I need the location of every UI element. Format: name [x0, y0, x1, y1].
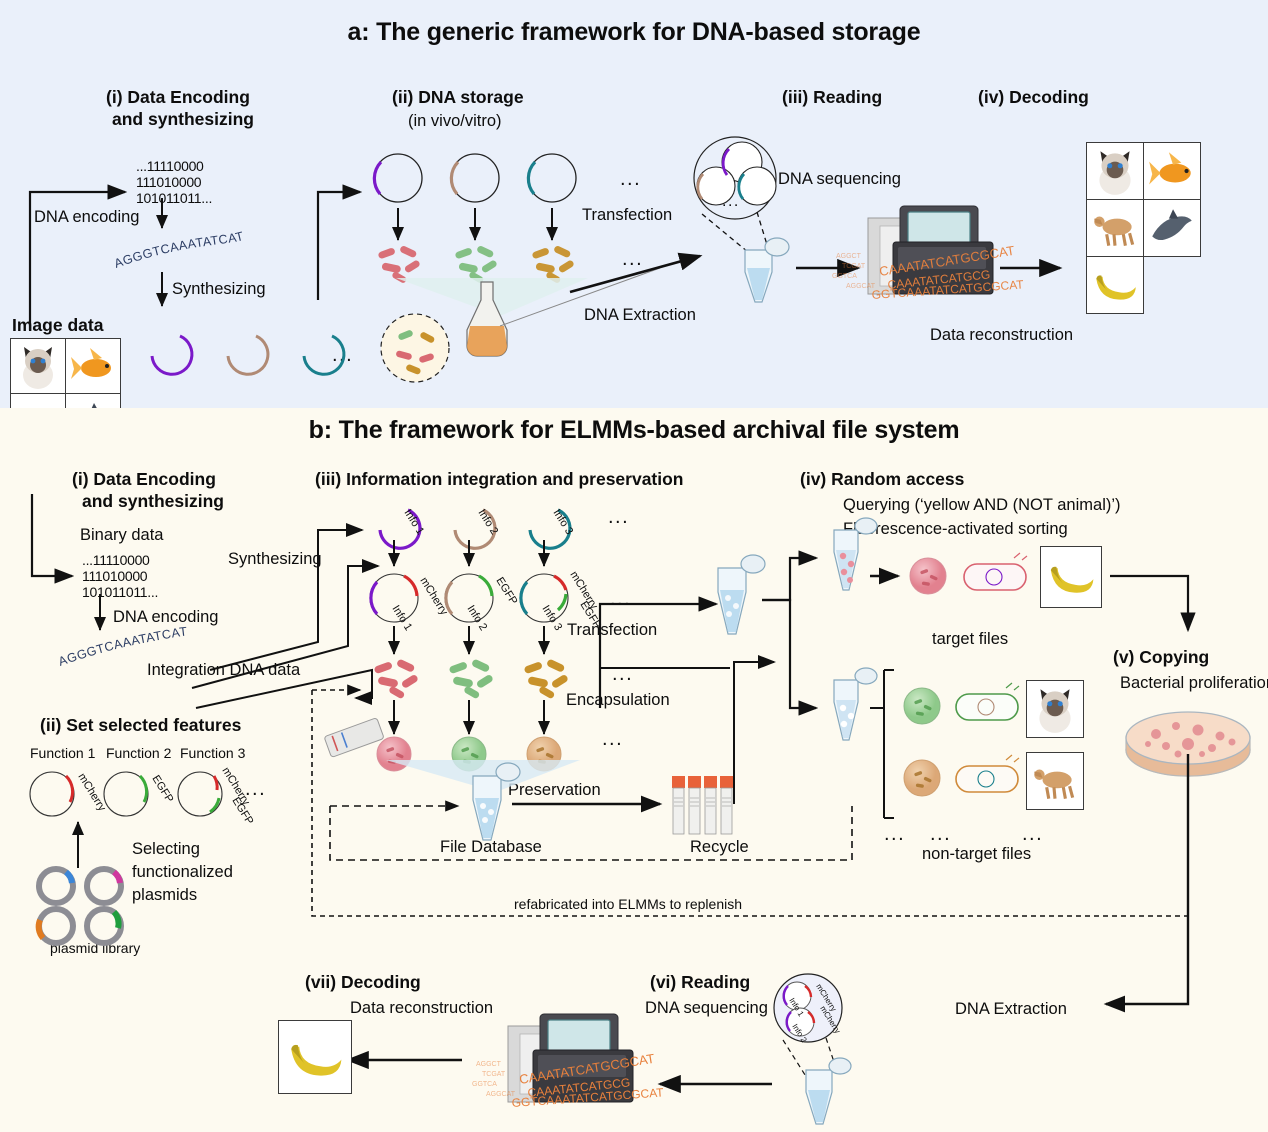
image-thumb-goldfish: [65, 338, 121, 394]
nontarget-ellipsis-1: ...: [884, 823, 905, 846]
panel-a-plasmid-ellipsis: ...: [620, 168, 641, 191]
panel-b-bacterial-proliferation-label: Bacterial proliferation: [1120, 674, 1268, 692]
svg-text:CAAATATCATGCGCAT: CAAATATCATGCGCAT: [518, 1051, 655, 1087]
panel-a-binary-line-2: 111010000: [136, 174, 201, 190]
panel-a-step-ii-label: (ii) DNA storage: [392, 88, 524, 108]
nontarget-ellipsis-2: ...: [930, 823, 951, 846]
svg-text:mCherry: mCherry: [75, 771, 108, 814]
decoded-thumb-goldfish: [1143, 142, 1201, 200]
svg-text:AGGCAT: AGGCAT: [486, 1091, 516, 1098]
decoded-thumb-dolphin: [1143, 199, 1201, 257]
svg-text:Info 2: Info 2: [475, 507, 500, 537]
panel-b-step-iv-label: (iv) Random access: [800, 470, 964, 490]
svg-text:TCGAT: TCGAT: [482, 1071, 506, 1078]
svg-text:mCherry: mCherry: [818, 1004, 842, 1035]
panel-a-synthesizing-label: Synthesizing: [172, 280, 266, 298]
svg-text:GGTCAAATATCATGCGCAT: GGTCAAATATCATGCGCAT: [871, 277, 1024, 302]
panel-b-step-v-label: (v) Copying: [1113, 648, 1209, 668]
panel-b-step-vi-label: (vi) Reading: [650, 973, 750, 993]
selecting-line-1: Selecting: [132, 840, 200, 858]
panel-b-binary-line-1: ...11110000: [82, 552, 150, 568]
panel-b-plasmid-ellipsis: ...: [610, 588, 631, 611]
function-2-label: Function 2: [106, 746, 171, 762]
panel-b-integration-dna-label: Integration DNA data: [147, 661, 300, 679]
nontarget-thumb-dog: [1026, 752, 1084, 810]
panel-b-dna-extraction-label: DNA Extraction: [955, 1000, 1067, 1018]
selecting-line-2: functionalized: [132, 863, 233, 881]
panel-b-elmms-framework: b: The framework for ELMMs-based archiva…: [0, 408, 1268, 1132]
svg-text:AGGCT: AGGCT: [476, 1061, 502, 1068]
features-ellipsis: ...: [245, 778, 266, 801]
panel-b-non-target-files-label: non-target files: [922, 845, 1031, 863]
svg-text:CAAATATCATGCGCAT: CAAATATCATGCGCAT: [878, 243, 1015, 279]
svg-text:mCherry: mCherry: [814, 982, 838, 1013]
svg-text:Info 3: Info 3: [550, 507, 575, 537]
panel-a-generic-framework: a: The generic framework for DNA-based s…: [0, 0, 1268, 408]
svg-text:AGGCAT: AGGCAT: [846, 283, 876, 290]
panel-b-step-ii-label: (ii) Set selected features: [40, 716, 241, 736]
panel-b-dna-encoding-label: DNA encoding: [113, 608, 219, 626]
panel-b-binary-line-3: 101011011...: [82, 584, 158, 600]
panel-b-transfection-label: Transfection: [567, 621, 657, 639]
svg-text:GGTCA: GGTCA: [472, 1081, 497, 1088]
target-thumb-banana: [1040, 546, 1102, 608]
panel-a-step-iii-label: (iii) Reading: [782, 88, 882, 108]
panel-a-dna-encoding-label: DNA encoding: [34, 208, 140, 226]
panel-a-step-i-label2: and synthesizing: [112, 110, 254, 130]
panel-b-target-files-label: target files: [932, 630, 1008, 648]
panel-a-data-reconstruction-label: Data reconstruction: [930, 326, 1073, 344]
svg-text:Info 3: Info 3: [539, 603, 564, 633]
svg-text:Info 1: Info 1: [787, 996, 806, 1018]
svg-text:TCGAT: TCGAT: [842, 263, 866, 270]
panel-b-step-vii-label: (vii) Decoding: [305, 973, 421, 993]
panel-b-info-ellipsis: ...: [608, 506, 629, 529]
svg-text:GGTCAAATATCATGCGCAT: GGTCAAATATCATGCGCAT: [511, 1085, 664, 1110]
image-thumb-cat: [10, 338, 66, 394]
panel-b-title: b: The framework for ELMMs-based archiva…: [0, 416, 1268, 444]
panel-a-bacteria-ellipsis: ...: [622, 248, 643, 271]
decoded-output-banana: [278, 1020, 352, 1094]
panel-a-step-i-label: (i) Data Encoding: [106, 88, 250, 108]
panel-b-encapsulation-label: Encapsulation: [566, 691, 670, 709]
function-3-label: Function 3: [180, 746, 245, 762]
panel-b-capsule-ellipsis: ...: [602, 728, 623, 751]
panel-a-binary-line-1: ...11110000: [136, 158, 204, 174]
svg-text:Info 1: Info 1: [401, 507, 426, 537]
svg-text:Info 2: Info 2: [464, 603, 489, 633]
svg-text:GGTCA: GGTCA: [832, 273, 857, 280]
panel-b-recycle-label: Recycle: [690, 838, 749, 856]
panel-a-step-iv-label: (iv) Decoding: [978, 88, 1089, 108]
svg-text:CAAATATCATGCG: CAAATATCATGCG: [887, 267, 991, 292]
plasmid-library-label: plasmid library: [50, 941, 140, 957]
panel-b-bacteria-ellipsis: ...: [612, 663, 633, 686]
panel-b-refabricated-label: refabricated into ELMMs to replenish: [514, 897, 742, 913]
panel-b-synthesizing-label: Synthesizing: [228, 550, 322, 568]
panel-b-binary-data-label: Binary data: [80, 526, 163, 544]
selecting-line-3: plasmids: [132, 886, 197, 904]
panel-b-step-iii-label: (iii) Information integration and preser…: [315, 470, 684, 490]
svg-text:AGGCT: AGGCT: [836, 253, 862, 260]
nontarget-thumb-cat: [1026, 680, 1084, 738]
panel-b-querying-label: Querying (‘yellow AND (NOT animal)’): [843, 496, 1121, 514]
panel-b-binary-line-2: 111010000: [82, 568, 147, 584]
panel-b-step-i-label: (i) Data Encoding: [72, 470, 216, 490]
panel-b-file-database-label: File Database: [440, 838, 542, 856]
svg-text:mCherry: mCherry: [417, 575, 450, 618]
panel-a-transfection-label: Transfection: [582, 206, 672, 224]
panel-a-binary-line-3: 101011011...: [136, 190, 212, 206]
svg-text:EGFP: EGFP: [149, 773, 175, 805]
svg-text:Info 1: Info 1: [389, 603, 414, 633]
panel-a-step-ii-label2: (in vivo/vitro): [408, 112, 502, 130]
function-1-label: Function 1: [30, 746, 95, 762]
svg-text:EGFP: EGFP: [493, 575, 519, 607]
panel-a-image-data-label: Image data: [12, 316, 103, 336]
panel-b-dna-sequencing-label: DNA sequencing: [645, 999, 768, 1017]
panel-a-dna-sequencing-label: DNA sequencing: [778, 170, 901, 188]
decoded-thumb-dog: [1086, 199, 1144, 257]
svg-text:CAAATATCATGCG: CAAATATCATGCG: [527, 1075, 631, 1100]
panel-a-dna-extraction-label: DNA Extraction: [584, 306, 696, 324]
decoded-thumb-cat: [1086, 142, 1144, 200]
panel-b-preservation-label: Preservation: [508, 781, 601, 799]
panel-b-sorting-label: Fluorescence-activated sorting: [843, 520, 1068, 538]
svg-text:Info 2: Info 2: [790, 1022, 809, 1044]
panel-b-data-reconstruction-label: Data reconstruction: [350, 999, 493, 1017]
panel-a-title: a: The generic framework for DNA-based s…: [0, 18, 1268, 46]
panel-b-step-i-label2: and synthesizing: [82, 492, 224, 512]
decoded-thumb-banana: [1086, 256, 1144, 314]
nontarget-ellipsis-3: ...: [1022, 823, 1043, 846]
svg-text:...: ...: [722, 193, 740, 210]
svg-text:mCherry: mCherry: [567, 569, 600, 612]
panel-a-synth-ellipsis: ...: [332, 344, 353, 367]
